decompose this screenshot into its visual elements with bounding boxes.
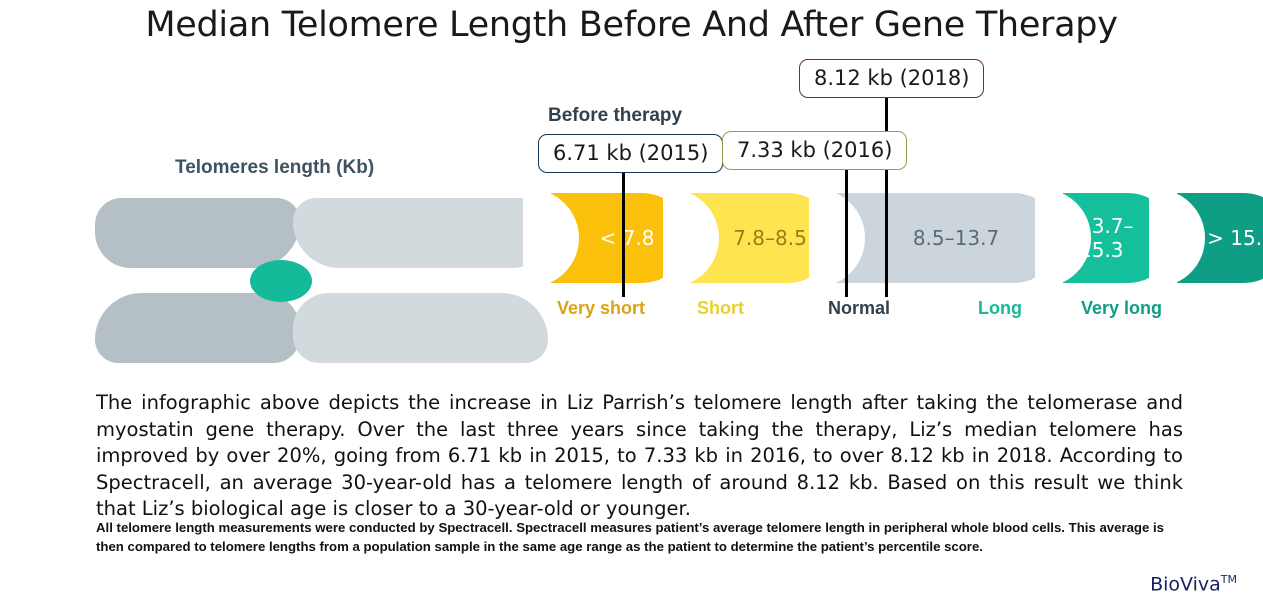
chromosome-arm-top-right (293, 198, 548, 268)
callout-2016: 7.33 kb (2016) (722, 131, 907, 170)
chromosome-arm-bottom-left (95, 293, 300, 363)
callout-2015: 6.71 kb (2015) (538, 134, 723, 173)
brand-logo: BioVivaTM (1150, 573, 1237, 595)
infographic-root: Median Telomere Length Before And After … (0, 0, 1263, 607)
range-segment-normal: 8.5–13.7 (837, 193, 1059, 283)
range-segment-very-short-label: < 7.8 (551, 193, 687, 283)
range-segment-very-long: > 15.3 (1177, 193, 1263, 283)
callout-2018: 8.12 kb (2018) (799, 59, 984, 98)
brand-name: BioViva (1150, 573, 1221, 595)
footnote-paragraph: All telomere length measurements were co… (96, 518, 1164, 556)
page-title: Median Telomere Length Before And After … (0, 5, 1263, 45)
before-therapy-label: Before therapy (548, 105, 682, 127)
centromere-icon (250, 260, 312, 302)
body-paragraph: The infographic above depicts the increa… (96, 390, 1183, 523)
chromosome-diagram (95, 198, 550, 363)
category-label-very-short: Very short (557, 298, 645, 319)
category-label-very-long: Very long (1081, 298, 1162, 319)
category-label-long: Long (978, 298, 1022, 319)
trademark-symbol: TM (1221, 573, 1237, 586)
range-segment-very-short: < 7.8 (551, 193, 687, 283)
pointer-line-2015 (622, 168, 625, 297)
chromosome-arm-bottom-right (293, 293, 548, 363)
chromosome-label: Telomeres length (Kb) (175, 157, 374, 179)
category-label-normal: Normal (828, 298, 890, 319)
pointer-line-2018 (885, 92, 888, 297)
range-segment-very-long-label: > 15.3 (1177, 193, 1263, 283)
range-segment-short-label: 7.8–8.5 (691, 193, 833, 283)
range-segment-long: 13.7–15.3 (1063, 193, 1173, 283)
range-segment-normal-label: 8.5–13.7 (837, 193, 1059, 283)
range-segment-long-label: 13.7–15.3 (1063, 193, 1173, 283)
category-label-short: Short (697, 298, 744, 319)
chromosome-arm-top-left (95, 198, 300, 268)
range-segment-short: 7.8–8.5 (691, 193, 833, 283)
pointer-line-2016 (845, 165, 848, 297)
